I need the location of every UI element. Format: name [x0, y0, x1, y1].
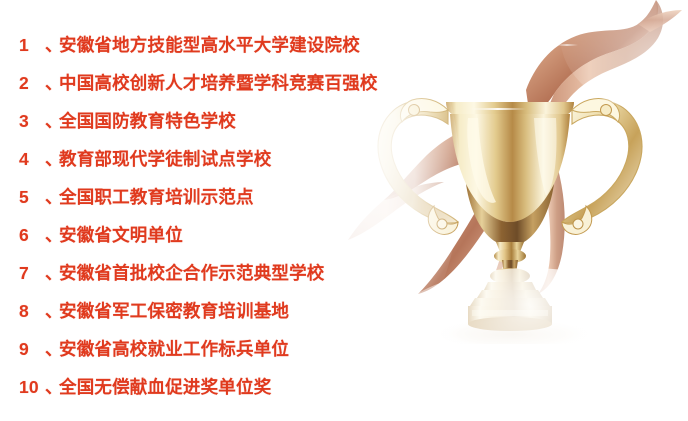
list-item-index: 7 — [19, 254, 45, 292]
list-item-index: 1 — [19, 26, 45, 64]
list-item-label: 教育部现代学徒制试点学校 — [59, 140, 271, 178]
list-item-label: 安徽省军工保密教育培训基地 — [59, 292, 289, 330]
list-item-separator: 、 — [45, 140, 59, 178]
list-item-label: 全国无偿献血促进奖单位奖 — [59, 368, 271, 406]
sparkle-icon — [494, 72, 524, 74]
list-item: 5 、 全国职工教育培训示范点 — [19, 178, 420, 216]
list-item-separator: 、 — [45, 330, 59, 368]
list-item-separator: 、 — [45, 254, 59, 292]
list-item-index: 3 — [19, 102, 45, 140]
list-item: 9 、 安徽省高校就业工作标兵单位 — [19, 330, 420, 368]
list-item: 6 、 安徽省文明单位 — [19, 216, 420, 254]
list-item-separator: 、 — [45, 368, 59, 406]
list-item-label: 全国国防教育特色学校 — [59, 102, 236, 140]
list-item-label: 中国高校创新人才培养暨学科竞赛百强校 — [59, 64, 378, 102]
list-item: 10 、 全国无偿献血促进奖单位奖 — [19, 368, 420, 406]
list-item-separator: 、 — [45, 26, 59, 64]
list-item-separator: 、 — [45, 178, 59, 216]
list-item-index: 10 — [19, 368, 45, 406]
list-item-index: 8 — [19, 292, 45, 330]
sparkle-icon — [470, 108, 526, 110]
list-item-index: 2 — [19, 64, 45, 102]
list-item-separator: 、 — [45, 102, 59, 140]
list-item-index: 9 — [19, 330, 45, 368]
list-item: 8 、 安徽省军工保密教育培训基地 — [19, 292, 420, 330]
list-item: 3 、 全国国防教育特色学校 — [19, 102, 420, 140]
list-item: 7 、 安徽省首批校企合作示范典型学校 — [19, 254, 420, 292]
honors-list: 1 、 安徽省地方技能型高水平大学建设院校 2 、 中国高校创新人才培养暨学科竞… — [0, 0, 420, 406]
list-item: 4 、 教育部现代学徒制试点学校 — [19, 140, 420, 178]
list-item-label: 安徽省文明单位 — [59, 216, 183, 254]
list-item-label: 安徽省高校就业工作标兵单位 — [59, 330, 289, 368]
list-item-label: 安徽省地方技能型高水平大学建设院校 — [59, 26, 360, 64]
artwork-glow-bottom — [380, 268, 680, 418]
list-item-label: 安徽省首批校企合作示范典型学校 — [59, 254, 325, 292]
list-item-separator: 、 — [45, 292, 59, 330]
list-item-index: 4 — [19, 140, 45, 178]
list-item-index: 5 — [19, 178, 45, 216]
list-item-separator: 、 — [45, 64, 59, 102]
slide-canvas: 1 、 安徽省地方技能型高水平大学建设院校 2 、 中国高校创新人才培养暨学科竞… — [0, 0, 688, 421]
list-item: 1 、 安徽省地方技能型高水平大学建设院校 — [19, 26, 420, 64]
list-item-separator: 、 — [45, 216, 59, 254]
list-item-index: 6 — [19, 216, 45, 254]
sparkle-icon — [556, 44, 578, 46]
list-item-label: 全国职工教育培训示范点 — [59, 178, 254, 216]
list-item: 2 、 中国高校创新人才培养暨学科竞赛百强校 — [19, 64, 420, 102]
artwork-glow-top — [560, 0, 688, 110]
